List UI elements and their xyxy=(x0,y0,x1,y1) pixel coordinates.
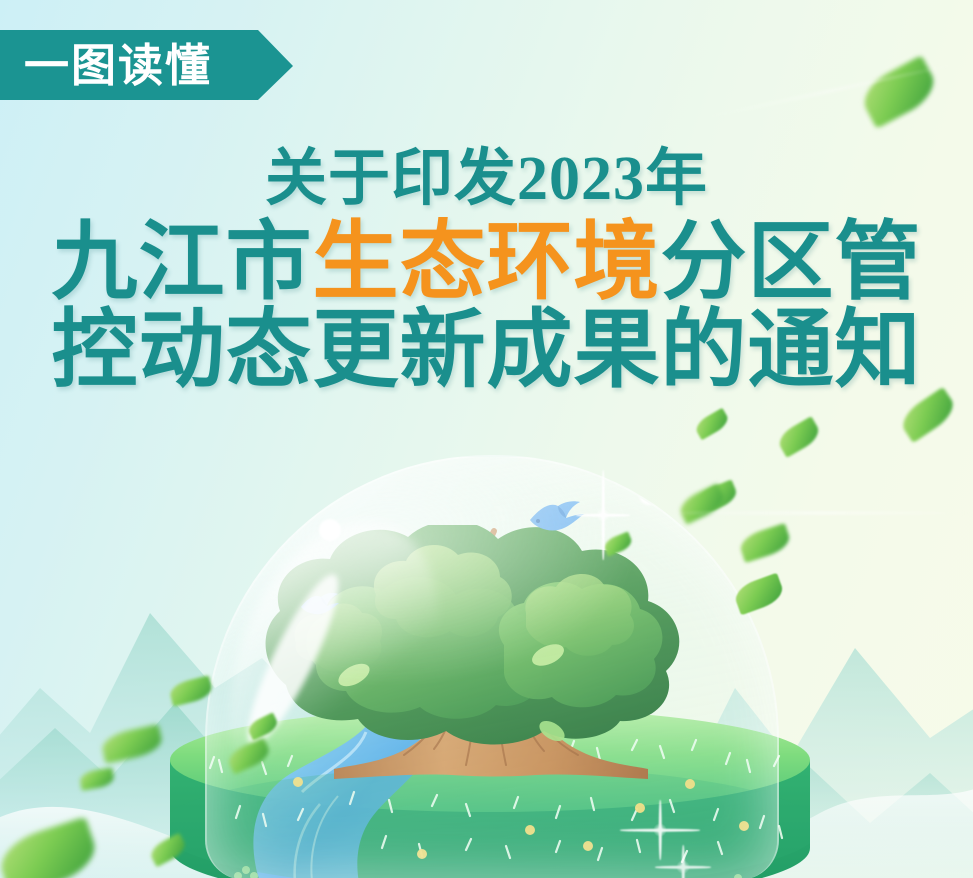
dome-highlight-dot-right xyxy=(639,485,659,505)
dome-highlight-dot xyxy=(319,519,341,541)
infographic-poster: 一图读懂 关于印发2023年 九江市生态环境分区管 控动态更新成果的通知 xyxy=(0,0,973,878)
light-streak-1 xyxy=(660,512,973,514)
